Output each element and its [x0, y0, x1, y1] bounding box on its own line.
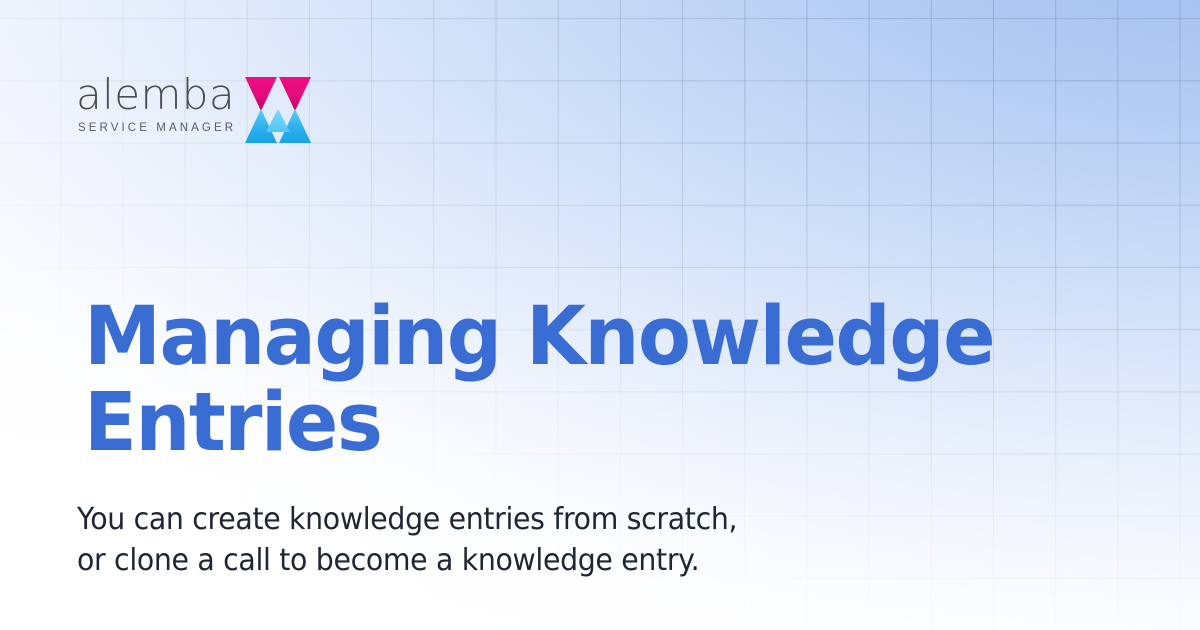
alemba-service-manager-logo: alemba SERVICE MANAGER [76, 72, 311, 152]
logo-wordmark: alemba [76, 74, 235, 116]
logo-tagline: SERVICE MANAGER [78, 121, 236, 135]
page-subtitle: You can create knowledge entries from sc… [77, 499, 877, 581]
page-title: Managing Knowledge Entries [84, 294, 1001, 466]
logo-text-block: alemba SERVICE MANAGER [76, 72, 236, 135]
hero-banner: alemba SERVICE MANAGER [0, 0, 1200, 630]
alemba-x-mark-icon [245, 73, 311, 152]
